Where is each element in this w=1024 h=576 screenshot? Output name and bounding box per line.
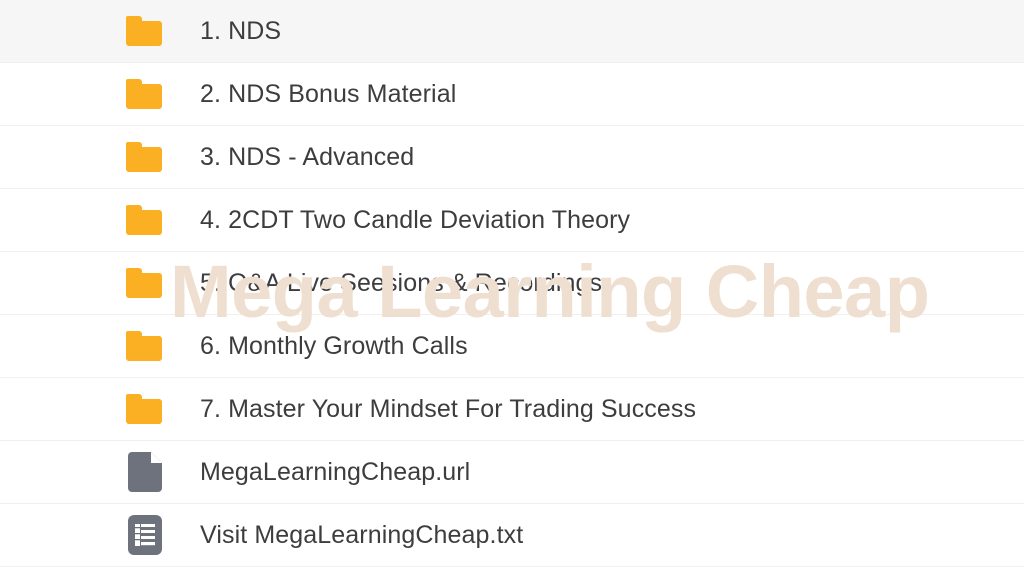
file-row-name[interactable]: 7. Master Your Mindset For Trading Succe… [200,397,1024,422]
folder-icon [126,268,162,298]
folder-icon [126,79,162,109]
folder-icon [126,142,162,172]
file-row-icon [0,205,200,235]
folder-icon [126,205,162,235]
file-row-name[interactable]: 6. Monthly Growth Calls [200,334,1024,359]
file-row-name[interactable]: MegaLearningCheap.url [200,460,1024,485]
document-icon [128,452,162,492]
file-row-icon [0,394,200,424]
file-row-icon [0,452,200,492]
file-row[interactable]: 1. NDS [0,0,1024,63]
file-row[interactable]: Visit MegaLearningCheap.txt [0,504,1024,567]
text-file-icon [128,515,162,555]
file-row-name[interactable]: 2. NDS Bonus Material [200,82,1024,107]
file-list: 1. NDS2. NDS Bonus Material3. NDS - Adva… [0,0,1024,567]
file-row-name[interactable]: 1. NDS [200,19,1024,44]
file-row-name[interactable]: 5. Q&A Live Seesions & Recordings [200,271,1024,296]
file-row-icon [0,515,200,555]
file-row-icon [0,268,200,298]
file-browser: Mega Learning Cheap 1. NDS2. NDS Bonus M… [0,0,1024,576]
file-row-name[interactable]: Visit MegaLearningCheap.txt [200,523,1024,548]
file-row[interactable]: 4. 2CDT Two Candle Deviation Theory [0,189,1024,252]
file-row[interactable]: 5. Q&A Live Seesions & Recordings [0,252,1024,315]
file-row[interactable]: 2. NDS Bonus Material [0,63,1024,126]
file-row[interactable]: MegaLearningCheap.url [0,441,1024,504]
file-row-icon [0,142,200,172]
folder-icon [126,394,162,424]
folder-icon [126,331,162,361]
folder-icon [126,16,162,46]
file-row[interactable]: 3. NDS - Advanced [0,126,1024,189]
file-row-icon [0,331,200,361]
file-row-name[interactable]: 4. 2CDT Two Candle Deviation Theory [200,208,1024,233]
file-row-name[interactable]: 3. NDS - Advanced [200,145,1024,170]
file-row-icon [0,79,200,109]
file-row[interactable]: 6. Monthly Growth Calls [0,315,1024,378]
file-row-icon [0,16,200,46]
file-row[interactable]: 7. Master Your Mindset For Trading Succe… [0,378,1024,441]
